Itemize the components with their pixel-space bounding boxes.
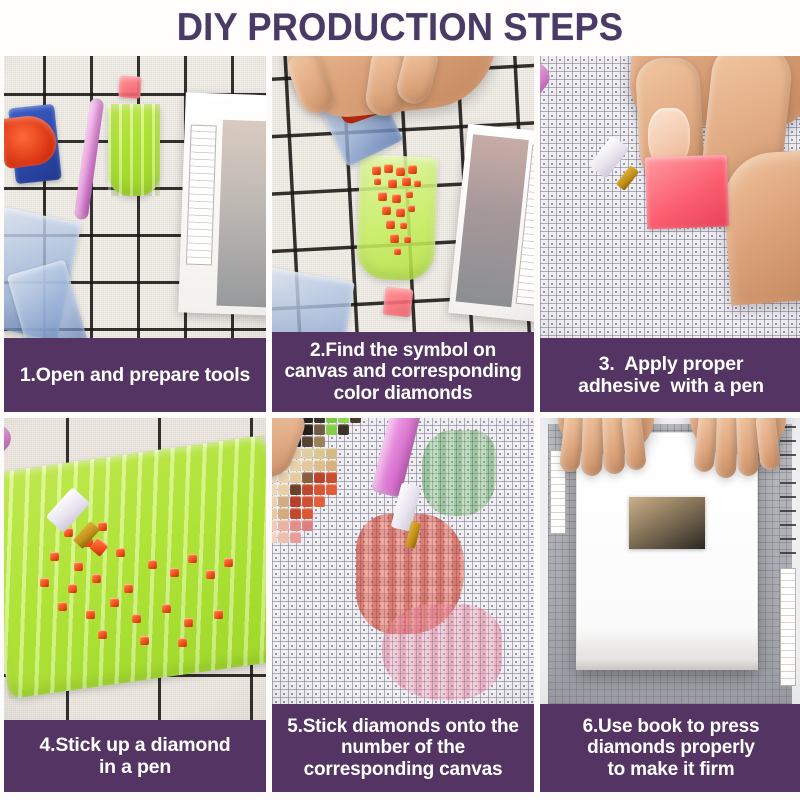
step-caption-5-line-2: number of the xyxy=(287,737,518,759)
page-title: DIY PRODUCTION STEPS xyxy=(177,6,623,50)
page-title-bar: DIY PRODUCTION STEPS xyxy=(0,0,800,56)
step-photo-4 xyxy=(4,418,266,720)
step-caption-6-line-2: diamonds properly xyxy=(583,737,760,759)
step-card-4: 4.Stick up a diamond in a pen xyxy=(4,418,266,792)
step-caption-2-line-2: canvas and corresponding xyxy=(285,361,522,383)
photo-vignette xyxy=(4,56,266,338)
diy-steps-infographic: DIY PRODUCTION STEPS xyxy=(0,0,800,800)
photo-vignette xyxy=(540,56,800,338)
steps-grid: 1.Open and prepare tools xyxy=(0,56,800,792)
photo-vignette xyxy=(272,418,534,704)
step-photo-5 xyxy=(272,418,534,704)
step-caption-2: 2.Find the symbol on canvas and correspo… xyxy=(272,332,534,412)
step-caption-3: 3. Apply proper adhesive with a pen xyxy=(540,338,800,412)
step-card-1: 1.Open and prepare tools xyxy=(4,56,266,412)
step-caption-1: 1.Open and prepare tools xyxy=(4,338,266,412)
step-caption-2-line-1: 2.Find the symbol on xyxy=(285,340,522,362)
step-caption-6-line-3: to make it firm xyxy=(583,759,760,781)
step-caption-6-line-1: 6.Use book to press xyxy=(583,716,760,738)
step-caption-3-line-2: adhesive with a pen xyxy=(578,375,764,397)
step-caption-4-line-2: in a pen xyxy=(39,756,230,778)
photo-vignette xyxy=(4,418,266,720)
step-caption-2-line-3: color diamonds xyxy=(285,383,522,405)
step-photo-3 xyxy=(540,56,800,338)
step-card-6: 6.Use book to press diamonds properly to… xyxy=(540,418,800,792)
step-photo-6 xyxy=(540,418,800,704)
step-card-3: 3. Apply proper adhesive with a pen xyxy=(540,56,800,412)
step-caption-6: 6.Use book to press diamonds properly to… xyxy=(540,704,800,792)
step-caption-4: 4.Stick up a diamond in a pen xyxy=(4,720,266,792)
photo-vignette xyxy=(540,418,800,704)
step-photo-1 xyxy=(4,56,266,338)
step-caption-1-line-1: 1.Open and prepare tools xyxy=(20,364,250,386)
step-caption-4-line-1: 4.Stick up a diamond xyxy=(39,734,230,756)
step-photo-2 xyxy=(272,56,534,332)
step-card-5: 5.Stick diamonds onto the number of the … xyxy=(272,418,534,792)
step-caption-3-line-1: 3. Apply proper xyxy=(578,353,764,375)
step-caption-5-line-3: corresponding canvas xyxy=(287,759,518,781)
step-card-2: 2.Find the symbol on canvas and correspo… xyxy=(272,56,534,412)
photo-vignette xyxy=(272,56,534,332)
step-caption-5-line-1: 5.Stick diamonds onto the xyxy=(287,716,518,738)
step-caption-5: 5.Stick diamonds onto the number of the … xyxy=(272,704,534,792)
